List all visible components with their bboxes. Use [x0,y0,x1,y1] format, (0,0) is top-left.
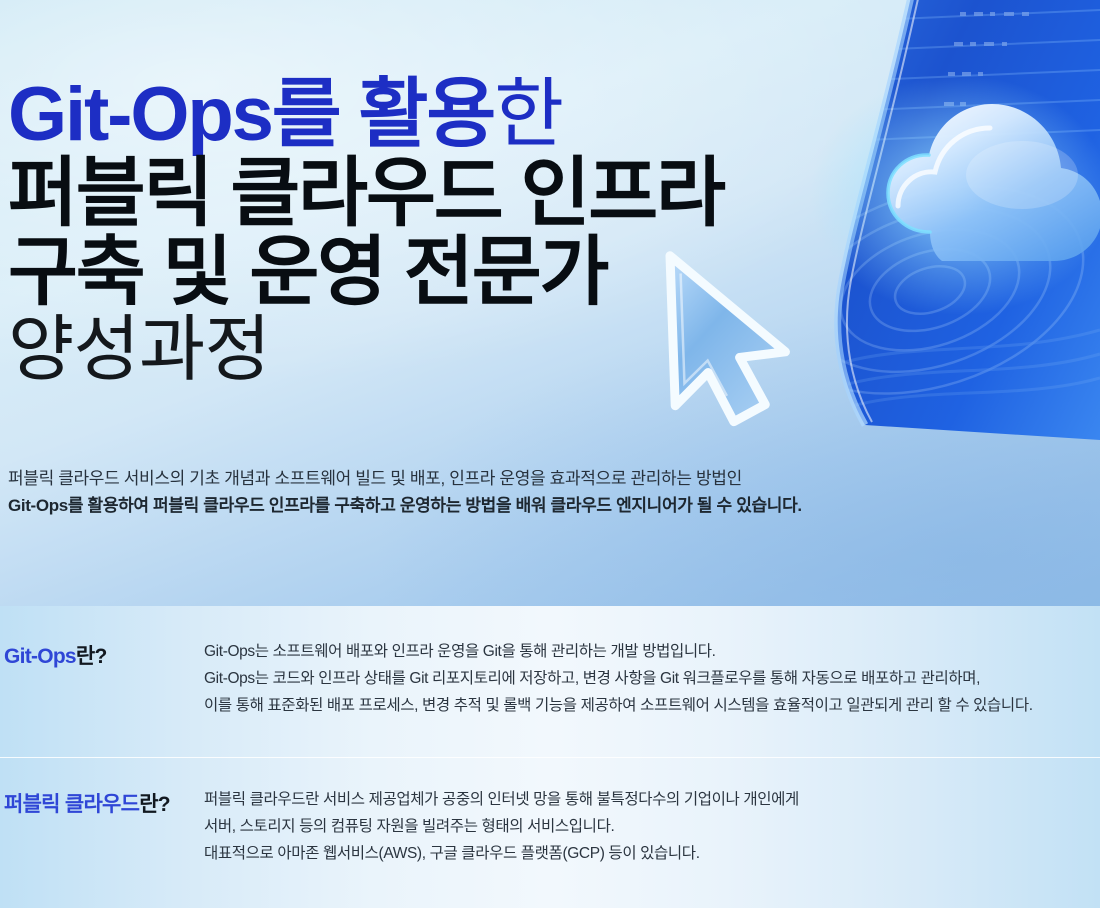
definition-body-line: Git-Ops는 소프트웨어 배포와 인프라 운영을 Git을 통해 관리하는 … [204,639,1100,666]
subtitle-line-2: Git-Ops를 활용하여 퍼블릭 클라우드 인프라를 구축하고 운영하는 방법… [8,492,802,520]
headline-line-1: Git-Ops를 활용한 [8,78,724,153]
definition-body-line: Git-Ops는 코드와 인프라 상태를 Git 리포지토리에 저장하고, 변경… [204,666,1100,693]
page-title: Git-Ops를 활용한 퍼블릭 클라우드 인프라 구축 및 운영 전문가 양성… [8,78,724,385]
cloud-glow [810,75,1100,315]
definition-label-public-cloud: 퍼블릭 클라우드란? [4,787,204,818]
definition-label-highlight: Git-Ops [4,645,76,668]
definition-body-public-cloud: 퍼블릭 클라우드란 서비스 제공업체가 공중의 인터넷 망을 통해 불특정다수의… [204,787,1100,868]
headline-emphasis: 활용 [359,72,495,157]
definition-body-line: 퍼블릭 클라우드란 서비스 제공업체가 공중의 인터넷 망을 통해 불특정다수의… [204,787,1100,814]
definition-body-line: 서버, 스토리지 등의 컴퓨팅 자원을 빌려주는 형태의 서비스입니다. [204,814,1100,841]
headline-line-4: 양성과정 [8,315,724,386]
subtitle-line-1: 퍼블릭 클라우드 서비스의 기초 개념과 소프트웨어 빌드 및 배포, 인프라 … [8,466,802,492]
headline-suffix: 한 [494,72,562,157]
hero-subtitle: 퍼블릭 클라우드 서비스의 기초 개념과 소프트웨어 빌드 및 배포, 인프라 … [8,466,802,520]
definition-row-gitops: Git-Ops란? Git-Ops는 소프트웨어 배포와 인프라 운영을 Git… [0,606,1100,757]
hero-section: Git-Ops를 활용한 퍼블릭 클라우드 인프라 구축 및 운영 전문가 양성… [0,0,1100,606]
definition-body-line: 이를 통해 표준화된 배포 프로세스, 변경 추적 및 롤백 기능을 제공하여 … [204,693,1100,720]
definition-body-line: 대표적으로 아마존 웹서비스(AWS), 구글 클라우드 플랫폼(GCP) 등이… [204,841,1100,868]
definitions-section: Git-Ops란? Git-Ops는 소프트웨어 배포와 인프라 운영을 Git… [0,606,1100,908]
definition-label-gitops: Git-Ops란? [4,639,204,670]
definition-row-public-cloud: 퍼블릭 클라우드란? 퍼블릭 클라우드란 서비스 제공업체가 공중의 인터넷 망… [0,757,1100,908]
definition-label-rest: 란? [76,645,107,668]
landing-page: Git-Ops를 활용한 퍼블릭 클라우드 인프라 구축 및 운영 전문가 양성… [0,0,1100,908]
headline-brand: Git-Ops [8,72,272,157]
headline-particle: 를 [272,72,359,157]
definition-label-highlight: 퍼블릭 클라우드 [4,793,139,816]
3d-cloud-icon [888,104,1100,261]
headline-line-2: 퍼블릭 클라우드 인프라 [8,157,724,232]
definition-label-rest: 란? [139,793,170,816]
headline-line-3: 구축 및 운영 전문가 [8,236,724,311]
data-slab-icon [750,0,1100,440]
definition-body-gitops: Git-Ops는 소프트웨어 배포와 인프라 운영을 Git을 통해 관리하는 … [204,639,1100,720]
